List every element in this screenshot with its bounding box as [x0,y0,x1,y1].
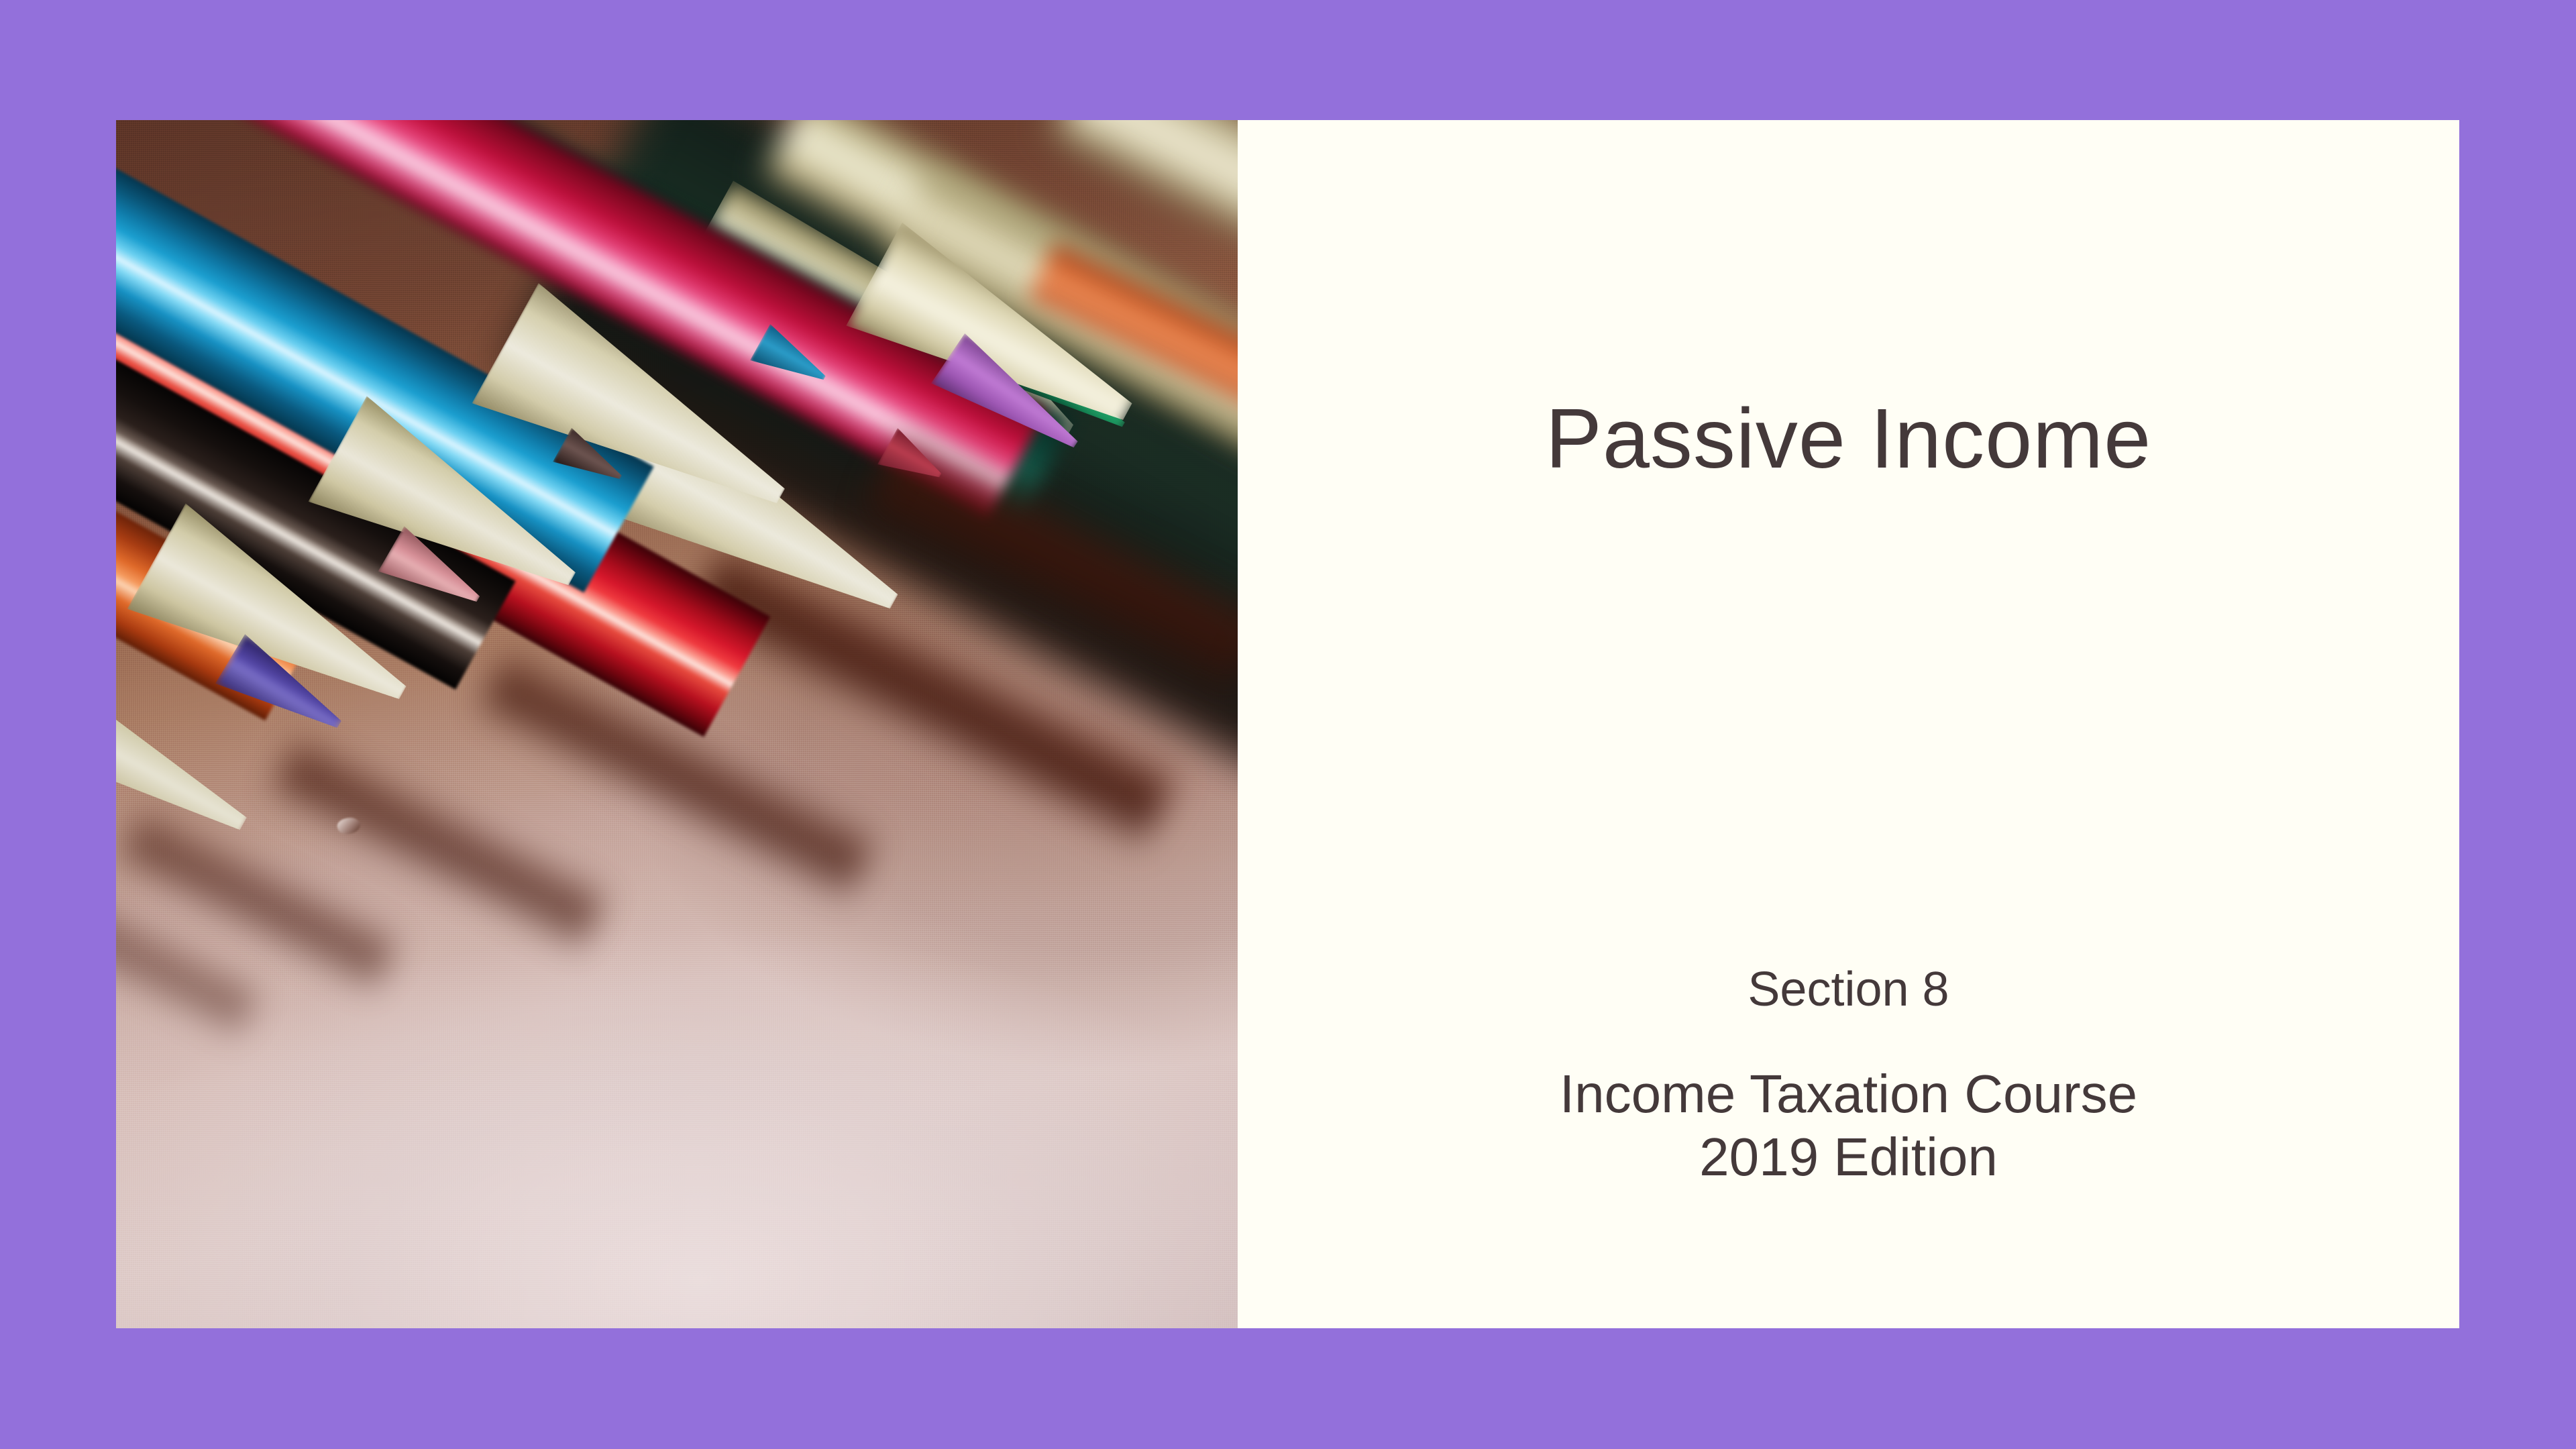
pencils-photo [116,120,1238,1328]
text-panel: Passive Income Section 8 Income Taxation… [1238,120,2459,1328]
slide-canvas: Passive Income Section 8 Income Taxation… [0,0,2576,1449]
course-name: Income Taxation Course [1238,1063,2459,1126]
course-subtitle: Income Taxation Course 2019 Edition [1238,1063,2459,1189]
slide-card: Passive Income Section 8 Income Taxation… [116,120,2459,1328]
section-label: Section 8 [1238,963,2459,1016]
course-edition: 2019 Edition [1238,1126,2459,1189]
page-title: Passive Income [1238,392,2459,486]
